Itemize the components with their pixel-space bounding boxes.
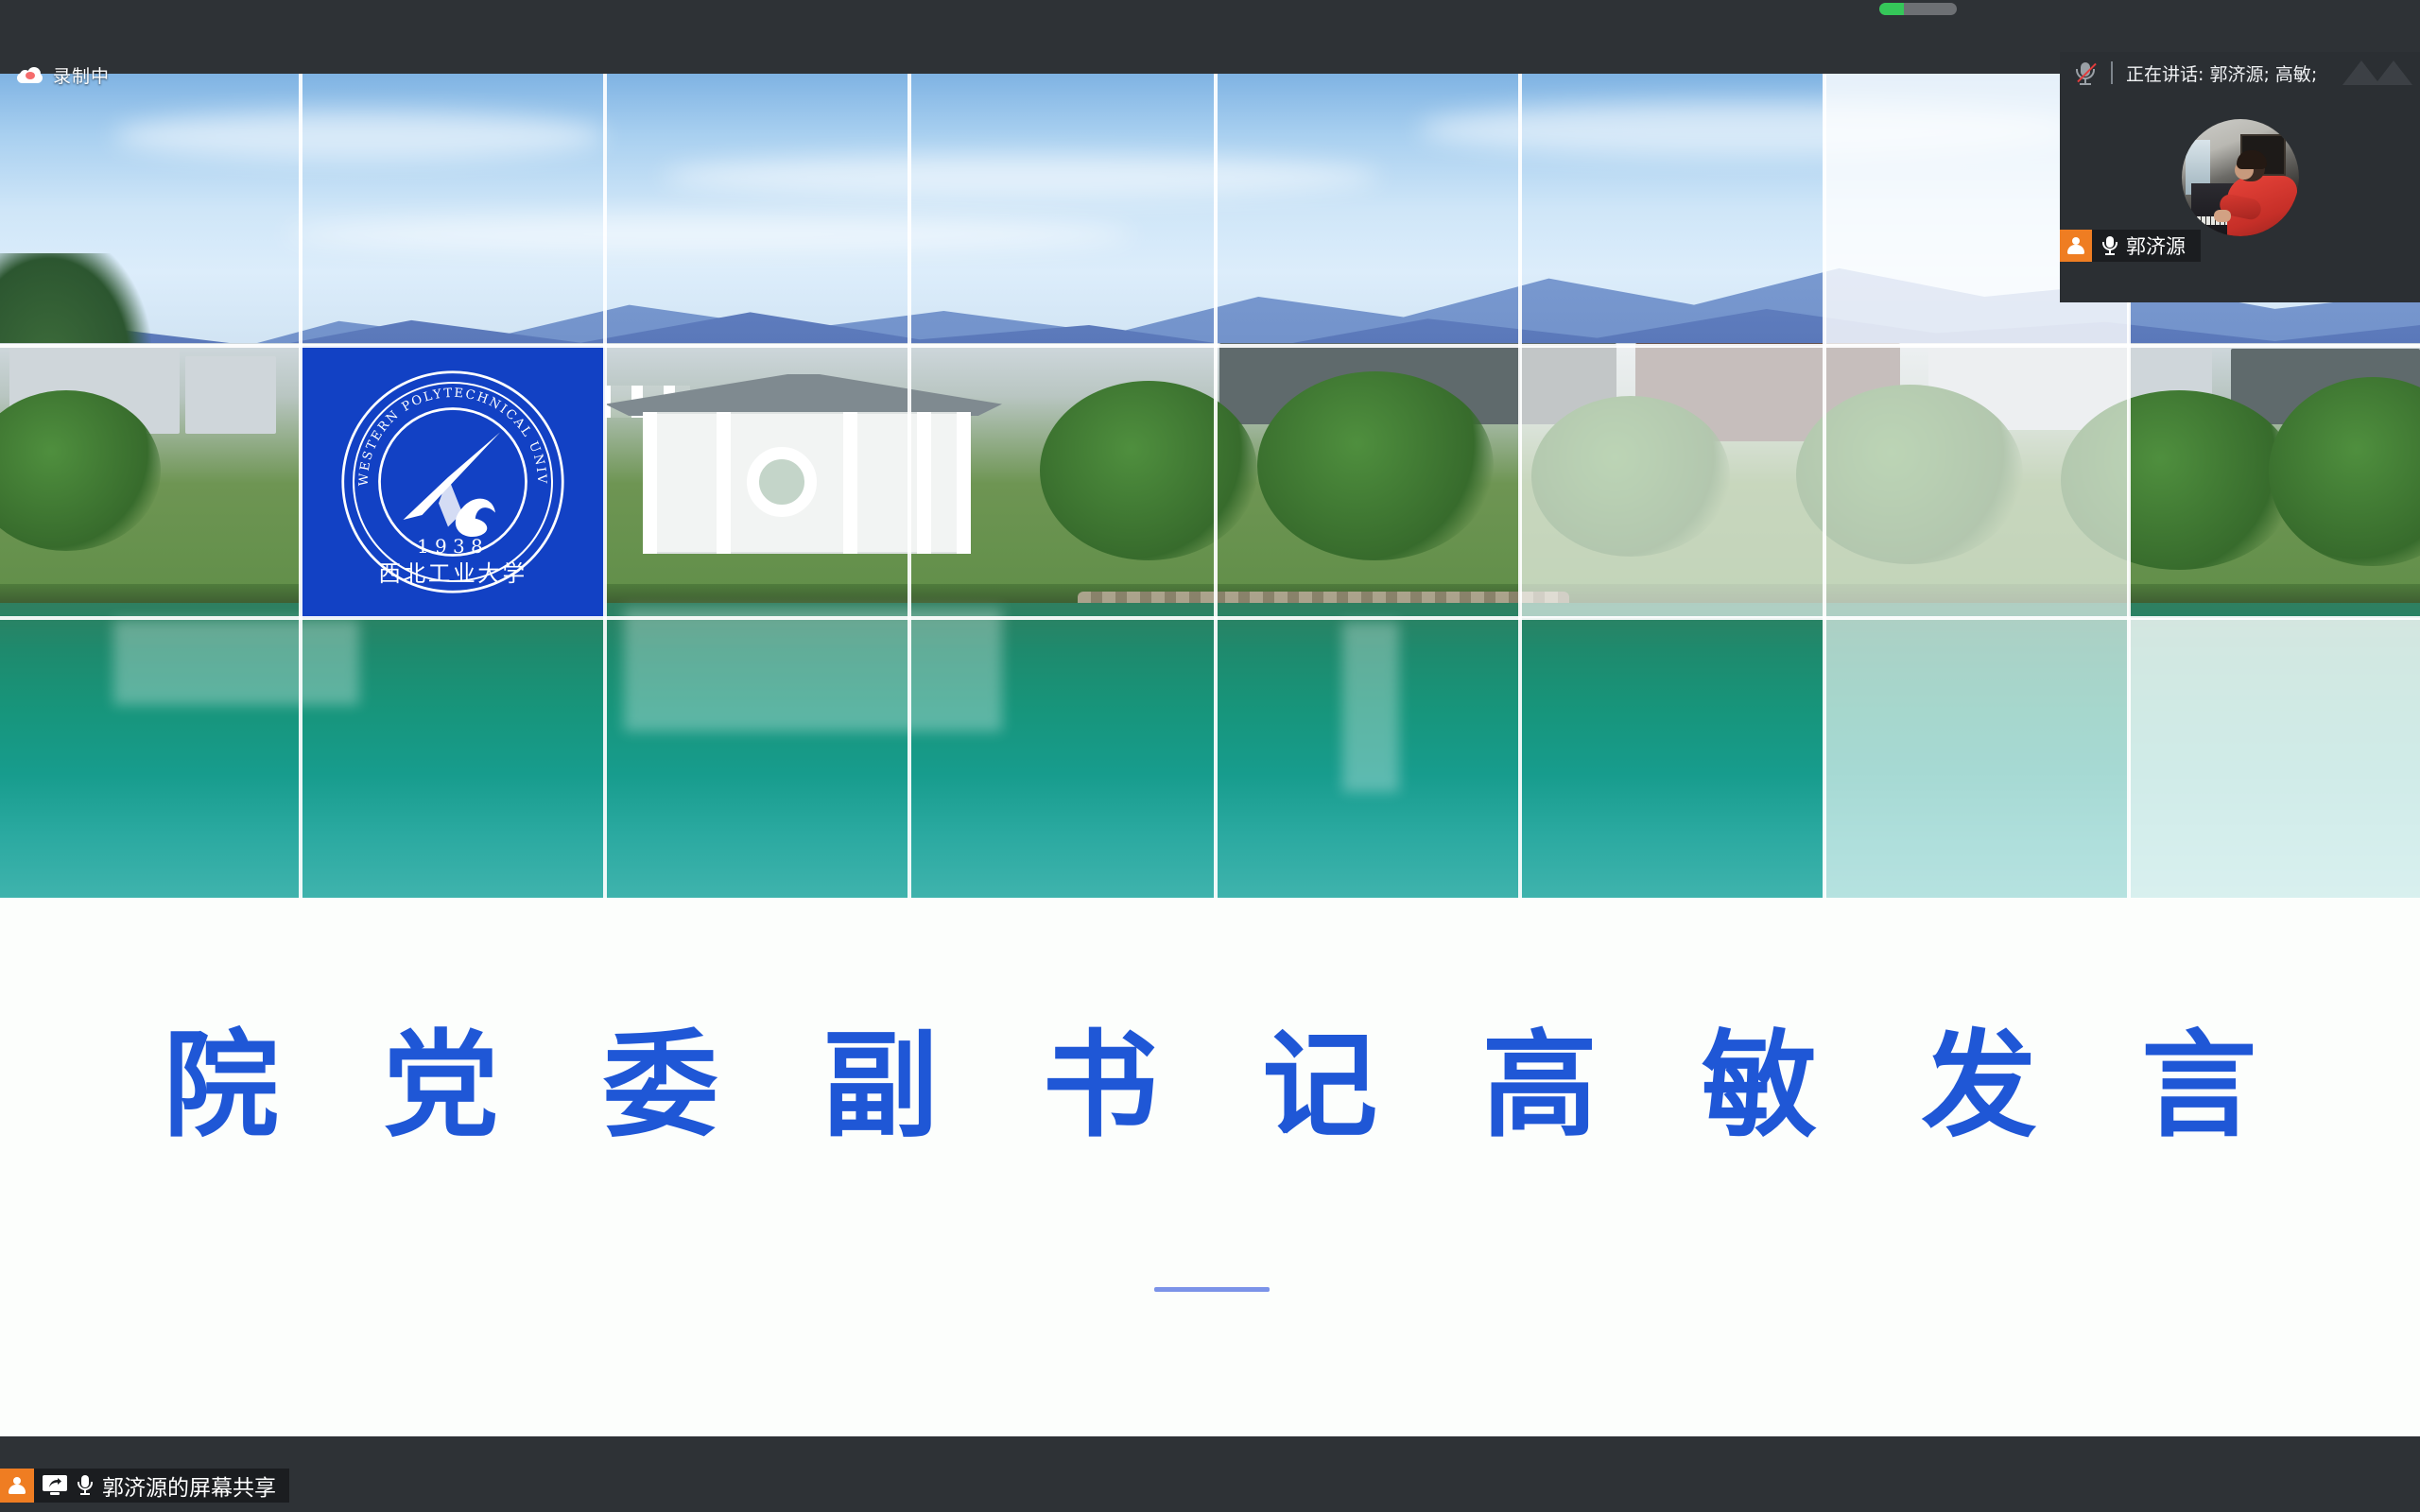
lakeside-pavilion xyxy=(605,357,1002,575)
speaker-video-tile[interactable]: 郭济源 xyxy=(2060,94,2420,262)
svg-text:西北工业大学: 西北工业大学 xyxy=(378,560,527,587)
water-reflection xyxy=(1342,622,1399,792)
slide-title: 院 党 委 副 书 记 高 敏 发 言 xyxy=(0,1019,2420,1155)
speaker-panel-header: 正在讲话: 郭济源; 高敏; xyxy=(2060,52,2420,94)
screen-share-icon xyxy=(43,1475,67,1496)
header-divider xyxy=(2111,61,2113,84)
northwestern-polytechnical-university-logo: NORTHWESTERN POLYTECHNICAL UNIVERSITY 19… xyxy=(301,346,605,618)
connection-strength-pill[interactable] xyxy=(1879,3,1957,15)
person-icon xyxy=(2060,230,2092,262)
shared-screen-stage[interactable]: NORTHWESTERN POLYTECHNICAL UNIVERSITY 19… xyxy=(0,74,2420,1436)
pavilion-column xyxy=(843,412,857,554)
top-chrome-bar xyxy=(0,0,2420,74)
cloud-wisp xyxy=(662,155,1380,198)
campus-scenery-photo: NORTHWESTERN POLYTECHNICAL UNIVERSITY 19… xyxy=(0,74,2420,898)
microphone-icon xyxy=(2100,233,2120,258)
microphone-icon xyxy=(75,1472,95,1499)
cloud-wisp xyxy=(113,112,605,161)
double-chevron-collapse-icon[interactable] xyxy=(2342,60,2412,87)
pavilion-roof xyxy=(605,374,1002,416)
cloud-wisp xyxy=(1418,102,2080,157)
bottom-bar: 郭济源的屏幕共享 xyxy=(0,1436,2420,1512)
pavilion-column xyxy=(717,412,731,554)
svg-text:1938: 1938 xyxy=(417,535,489,558)
screen-share-tag: 郭济源的屏幕共享 xyxy=(0,1469,289,1503)
tree-cluster xyxy=(1040,381,1257,560)
pavilion-column xyxy=(917,412,931,554)
building xyxy=(185,356,276,434)
screen-share-label: 郭济源的屏幕共享 xyxy=(100,1469,289,1502)
meeting-app-window: NORTHWESTERN POLYTECHNICAL UNIVERSITY 19… xyxy=(0,0,2420,1512)
active-speaker-panel[interactable]: 正在讲话: 郭济源; 高敏; xyxy=(2060,52,2420,302)
speaking-label: 正在讲话: 郭济源; 高敏; xyxy=(2126,60,2317,86)
water-reflection xyxy=(624,609,1002,731)
slide-title-underline xyxy=(1154,1287,1270,1292)
recording-indicator[interactable]: 录制中 xyxy=(17,62,110,87)
svg-text:NORTHWESTERN POLYTECHNICAL UNI: NORTHWESTERN POLYTECHNICAL UNIVERSITY xyxy=(335,364,548,487)
pavilion-column xyxy=(957,412,971,554)
tree-cluster xyxy=(1531,396,1730,557)
slide-caption-area: 院 党 委 副 书 记 高 敏 发 言 xyxy=(0,898,2420,1436)
person-icon xyxy=(0,1469,34,1503)
university-seal-icon: NORTHWESTERN POLYTECHNICAL UNIVERSITY 19… xyxy=(335,364,571,600)
participant-avatar-photo xyxy=(2182,119,2299,236)
pavilion-column xyxy=(643,412,657,554)
tree-cluster xyxy=(1796,385,2023,564)
pavilion-moon-window xyxy=(747,447,817,517)
microphone-muted-icon[interactable] xyxy=(2073,60,2098,86)
cloud-recording-icon xyxy=(17,67,43,83)
participant-name-tag: 郭济源 xyxy=(2060,230,2201,262)
tree-cluster xyxy=(2061,390,2297,570)
lake-water xyxy=(0,603,2420,898)
participant-name: 郭济源 xyxy=(2124,232,2201,260)
water-reflection xyxy=(113,620,359,705)
recording-label: 录制中 xyxy=(53,62,110,88)
tree-cluster xyxy=(1257,371,1494,560)
connection-strength-fill xyxy=(1879,3,1904,15)
cloud-wisp xyxy=(284,215,1134,253)
